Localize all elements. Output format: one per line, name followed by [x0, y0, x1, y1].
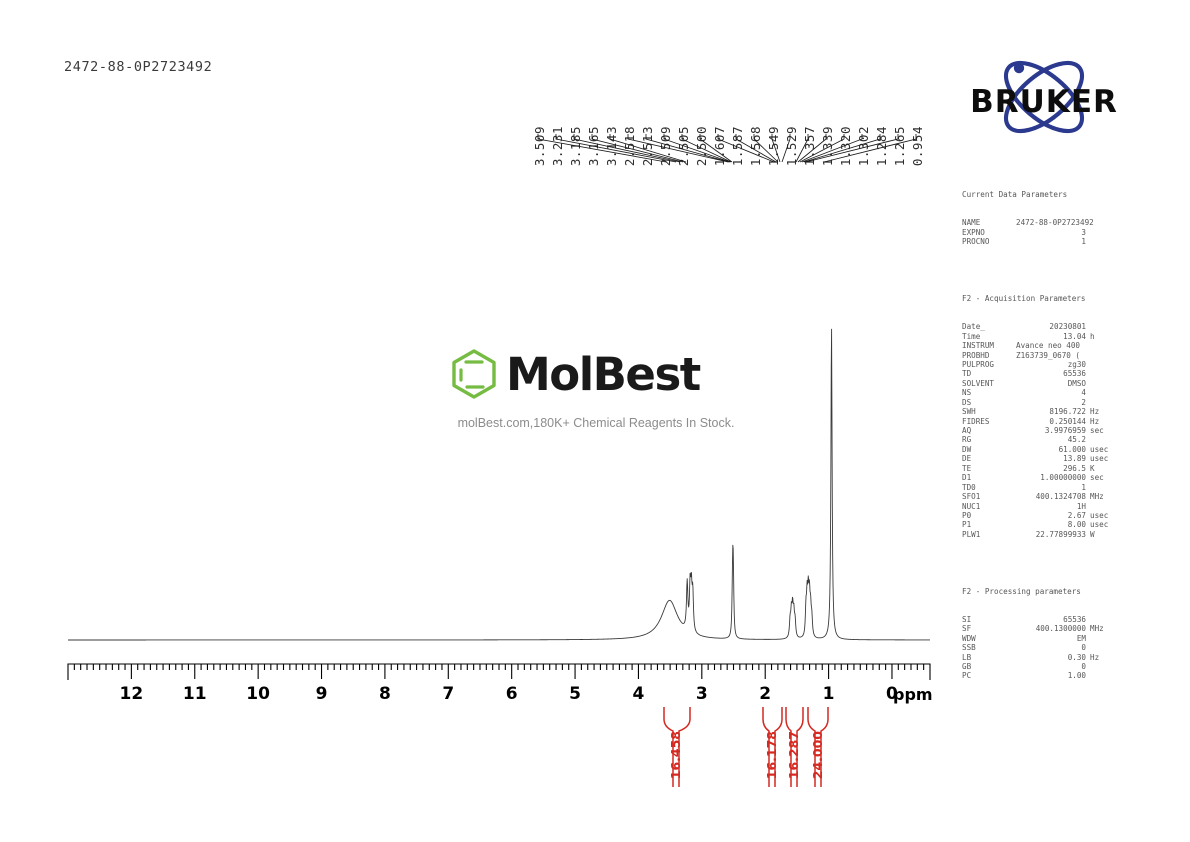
atom-orbital-icon: BRUKER — [962, 52, 1127, 142]
axis-ruler-path — [68, 664, 930, 680]
axis-unit-label: ppm — [893, 685, 933, 704]
axis-tick-label: 5 — [569, 684, 581, 704]
axis-tick-label: 2 — [759, 684, 771, 704]
integral-list: 16.45816.17816.28724.000 — [0, 705, 1190, 805]
bruker-wordmark: BRUKER — [970, 84, 1118, 120]
watermark-logo-row: MolBest — [446, 345, 746, 403]
axis-tick-label: 4 — [633, 684, 645, 704]
axis-tick-label: 10 — [246, 684, 270, 704]
integral-curve-marks — [0, 705, 1190, 805]
axis-tick-label: 8 — [379, 684, 391, 704]
axis-tick-label: 7 — [442, 684, 454, 704]
hexagon-icon — [446, 346, 502, 402]
axis-tick-label: 11 — [183, 684, 207, 704]
axis-tick-label: 12 — [120, 684, 144, 704]
axis-tick-label: 3 — [696, 684, 708, 704]
axis-tick-label: 9 — [316, 684, 328, 704]
axis-ruler — [0, 660, 1190, 682]
axis-tick-label: 1 — [823, 684, 835, 704]
integral-value: 16.287 — [788, 731, 801, 779]
integral-value: 16.458 — [670, 731, 683, 779]
integral-value: 24.000 — [812, 731, 825, 779]
molbest-watermark: MolBest molBest.com,180K+ Chemical Reage… — [446, 345, 746, 430]
integral-value: 16.178 — [766, 731, 779, 779]
watermark-wordmark: MolBest — [506, 352, 700, 397]
nmr-report-page: 2472-88-0P2723492 BRUKER Current Data Pa… — [0, 0, 1190, 842]
page-title: 2472-88-0P2723492 — [64, 59, 212, 75]
axis-tick-label: 6 — [506, 684, 518, 704]
watermark-tagline: molBest.com,180K+ Chemical Reagents In S… — [446, 416, 746, 430]
atom-nucleus-dot — [1014, 63, 1024, 73]
bruker-logo: BRUKER — [962, 52, 1127, 142]
